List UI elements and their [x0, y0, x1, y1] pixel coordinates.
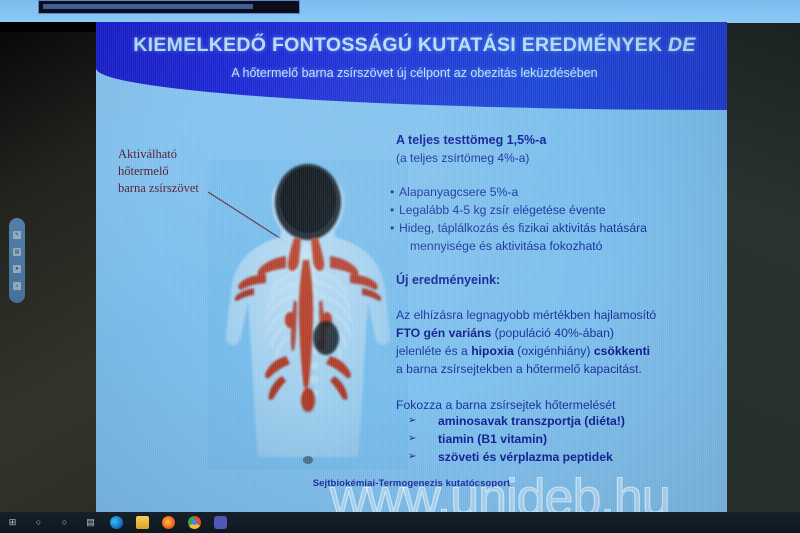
arrow-bullet-icon: ➢	[408, 451, 416, 462]
bullet-dot-icon: •	[390, 221, 394, 235]
list-item-label: Hideg, táplálkozás és fizikai aktivitás …	[399, 221, 647, 235]
arrow-bullet-icon: ➢	[408, 415, 416, 426]
cortana-glyph: ○	[58, 516, 71, 529]
list-item: aminosavak transzportja (diéta!)	[438, 414, 625, 428]
list-heading: Fokozza a barna zsírsejtek hőtermelését	[396, 398, 615, 412]
pet-ct-scan-image	[208, 160, 408, 470]
lead-substatement: (a teljes zsírtömeg 4%-a)	[396, 151, 529, 165]
paragraph-line: a barna zsírsejtekben a hőtermelő kapaci…	[396, 362, 642, 376]
list-item: • Alapanyagcsere 5%-a	[399, 185, 518, 199]
arrow-bullet-icon: ➢	[408, 433, 416, 444]
paragraph-emphasis: FTO gén variáns	[396, 326, 491, 340]
start-button[interactable]: ⊞	[6, 516, 19, 529]
task-view-glyph: ▤	[84, 516, 97, 529]
paragraph-line: FTO gén variáns (populáció 40%-ában)	[396, 326, 614, 340]
firefox-icon[interactable]	[162, 516, 175, 529]
desktop-background-right	[727, 22, 800, 513]
projector-screen-photo: ✎ ▤ ➤ ⌕ KIEMELKEDŐ FONTOSSÁGÚ KUTATÁSI E…	[0, 0, 800, 533]
note-icon[interactable]: ▤	[13, 248, 21, 256]
pointer-icon[interactable]: ➤	[13, 265, 21, 273]
list-item-label: Legalább 4-5 kg zsír elégetése évente	[399, 203, 606, 217]
slide-subtitle: A hőtermelő barna zsírszövet új célpont …	[122, 66, 707, 80]
background-window[interactable]	[38, 0, 300, 14]
list-item: • Hideg, táplálkozás és fizikai aktivitá…	[399, 221, 647, 235]
section-heading: Új eredményeink:	[396, 273, 500, 287]
list-item: szöveti és vérplazma peptidek	[438, 450, 613, 464]
paragraph-emphasis: csökkenti	[594, 344, 650, 358]
presentation-slide: KIEMELKEDŐ FONTOSSÁGÚ KUTATÁSI EREDMÉNYE…	[96, 22, 727, 513]
file-explorer-icon[interactable]	[136, 516, 149, 529]
list-item-continuation: mennyisége és aktivitása fokozható	[410, 239, 602, 253]
slide-title-banner: KIEMELKEDŐ FONTOSSÁGÚ KUTATÁSI EREDMÉNYE…	[96, 22, 727, 110]
teams-icon[interactable]	[214, 516, 227, 529]
page-title: KIEMELKEDŐ FONTOSSÁGÚ KUTATÁSI EREDMÉNYE…	[122, 34, 707, 57]
bullet-dot-icon: •	[390, 203, 394, 217]
list-item: • Legalább 4-5 kg zsír elégetése évente	[399, 203, 606, 217]
paragraph-emphasis: hipoxia	[471, 344, 514, 358]
paragraph-text: (oxigénhiány)	[514, 344, 594, 358]
page-title-text: KIEMELKEDŐ FONTOSSÁGÚ KUTATÁSI EREDMÉNYE…	[133, 34, 662, 56]
background-window-titlebar	[43, 4, 253, 9]
windows-taskbar[interactable]: ⊞ ○ ○ ▤	[0, 512, 800, 533]
paragraph-line: jelenléte és a hipoxia (oxigénhiány) csö…	[396, 344, 650, 358]
bullet-dot-icon: •	[390, 185, 394, 199]
floating-annotation-toolbar[interactable]: ✎ ▤ ➤ ⌕	[9, 218, 25, 303]
search-glyph: ○	[32, 516, 45, 529]
paragraph-line: Az elhízásra legnagyobb mértékben hajlam…	[396, 308, 656, 322]
list-item-label: Alapanyagcsere 5%-a	[399, 185, 518, 199]
chrome-icon[interactable]	[188, 516, 201, 529]
list-item: tiamin (B1 vitamin)	[438, 432, 547, 446]
slide-footer: Sejtbiokémiai-Termogenezis kutatócsoport	[96, 478, 727, 489]
lead-statement: A teljes testtömeg 1,5%-a	[396, 133, 546, 147]
start-glyph: ⊞	[6, 516, 19, 529]
edge-icon[interactable]	[110, 516, 123, 529]
cortana-icon[interactable]: ○	[58, 516, 71, 529]
zoom-icon[interactable]: ⌕	[13, 282, 21, 290]
screen-top-shadow	[0, 22, 96, 32]
task-view-icon[interactable]: ▤	[84, 516, 97, 529]
paragraph-text: (populáció 40%-ában)	[491, 326, 614, 340]
search-icon[interactable]: ○	[32, 516, 45, 529]
page-title-suffix: DE	[668, 34, 696, 56]
paragraph-text: jelenléte és a	[396, 344, 471, 358]
pen-icon[interactable]: ✎	[13, 231, 21, 239]
pet-ct-scan-figure	[208, 160, 408, 470]
